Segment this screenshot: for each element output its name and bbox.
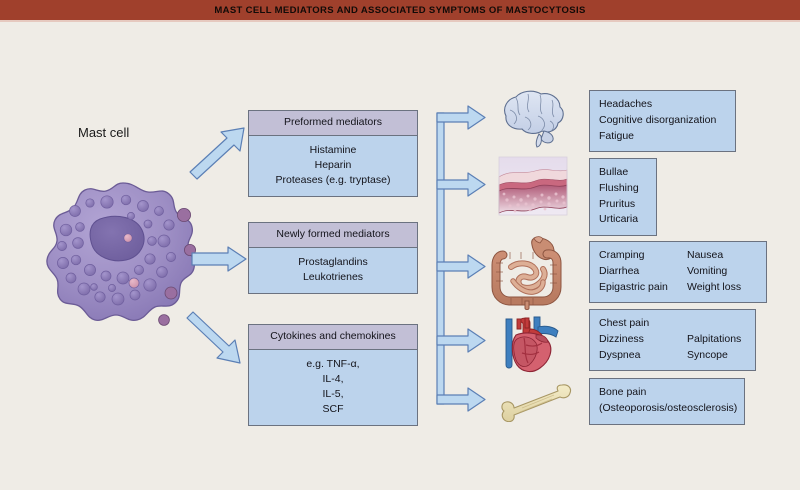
mediator-item: e.g. TNF-α, bbox=[253, 357, 413, 372]
symptom-spacer bbox=[687, 316, 741, 332]
symptom-item: (Osteoporosis/osteosclerosis) bbox=[599, 401, 735, 417]
mediator-box-items: Histamine Heparin Proteases (e.g. trypta… bbox=[249, 136, 417, 197]
symptom-item: Urticaria bbox=[599, 212, 647, 228]
symptom-item: Nausea bbox=[687, 248, 741, 264]
symptom-item: Chest pain bbox=[599, 316, 687, 332]
mediator-box-preformed: Preformed mediators Histamine Heparin Pr… bbox=[248, 110, 418, 197]
arrow-cell-to-preformed bbox=[190, 128, 244, 179]
symptom-box-gastrointestinal: Cramping Diarrhea Epigastric pain Nausea… bbox=[589, 241, 767, 303]
symptom-column-left: Chest pain Dizziness Dyspnea bbox=[599, 316, 687, 363]
mediator-item: IL-5, bbox=[253, 387, 413, 402]
symptom-column-left: Cramping Diarrhea Epigastric pain bbox=[599, 248, 687, 295]
bone-illustration bbox=[492, 382, 574, 422]
symptom-item: Bullae bbox=[599, 165, 647, 181]
mediator-item: Prostaglandins bbox=[253, 255, 413, 270]
symptom-box-brain: Headaches Cognitive disorganization Fati… bbox=[589, 90, 736, 152]
skin-illustration bbox=[497, 155, 569, 217]
symptom-item: Fatigue bbox=[599, 129, 726, 145]
arrow-cell-to-newly-formed bbox=[192, 247, 246, 271]
mediator-box-title: Cytokines and chemokines bbox=[249, 325, 417, 350]
symptom-box-heart: Chest pain Dizziness Dyspnea Palpitation… bbox=[589, 309, 756, 371]
symptom-item: Palpitations bbox=[687, 332, 741, 348]
symptom-item: Cramping bbox=[599, 248, 687, 264]
mediator-box-cytokines: Cytokines and chemokines e.g. TNF-α, IL-… bbox=[248, 324, 418, 426]
symptom-item: Vomiting bbox=[687, 264, 741, 280]
mediator-box-items: e.g. TNF-α, IL-4, IL-5, SCF bbox=[249, 350, 417, 426]
mediator-item: SCF bbox=[253, 402, 413, 417]
heart-illustration bbox=[492, 315, 568, 377]
mediator-item: Heparin bbox=[253, 158, 413, 173]
mediator-item: Leukotrienes bbox=[253, 270, 413, 285]
arrow-cell-to-cytokines bbox=[187, 312, 240, 363]
symptom-item: Dyspnea bbox=[599, 348, 687, 364]
gi-tract-illustration bbox=[485, 235, 573, 311]
mediator-box-newly-formed: Newly formed mediators Prostaglandins Le… bbox=[248, 222, 418, 294]
mediator-box-title: Newly formed mediators bbox=[249, 223, 417, 248]
symptom-column-right: Palpitations Syncope bbox=[687, 316, 741, 363]
symptom-item: Headaches bbox=[599, 97, 726, 113]
symptom-item: Diarrhea bbox=[599, 264, 687, 280]
symptom-box-skin: Bullae Flushing Pruritus Urticaria bbox=[589, 158, 657, 236]
brain-illustration bbox=[492, 86, 572, 148]
symptom-item: Epigastric pain bbox=[599, 280, 687, 296]
symptom-item: Dizziness bbox=[599, 332, 687, 348]
mediator-output-bus bbox=[437, 106, 485, 411]
mediator-item: Proteases (e.g. tryptase) bbox=[253, 173, 413, 188]
mediator-item: IL-4, bbox=[253, 372, 413, 387]
symptom-item: Cognitive disorganization bbox=[599, 113, 726, 129]
mediator-box-title: Preformed mediators bbox=[249, 111, 417, 136]
symptom-column-right: Nausea Vomiting Weight loss bbox=[687, 248, 741, 295]
symptom-item: Syncope bbox=[687, 348, 741, 364]
symptom-item: Bone pain bbox=[599, 385, 735, 401]
mediator-box-items: Prostaglandins Leukotrienes bbox=[249, 248, 417, 293]
symptom-item: Flushing bbox=[599, 181, 647, 197]
diagram-canvas: MAST CELL MEDIATORS AND ASSOCIATED SYMPT… bbox=[0, 0, 800, 490]
symptom-box-bone: Bone pain (Osteoporosis/osteosclerosis) bbox=[589, 378, 745, 425]
symptom-item: Weight loss bbox=[687, 280, 741, 296]
symptom-item: Pruritus bbox=[599, 197, 647, 213]
mediator-item: Histamine bbox=[253, 143, 413, 158]
